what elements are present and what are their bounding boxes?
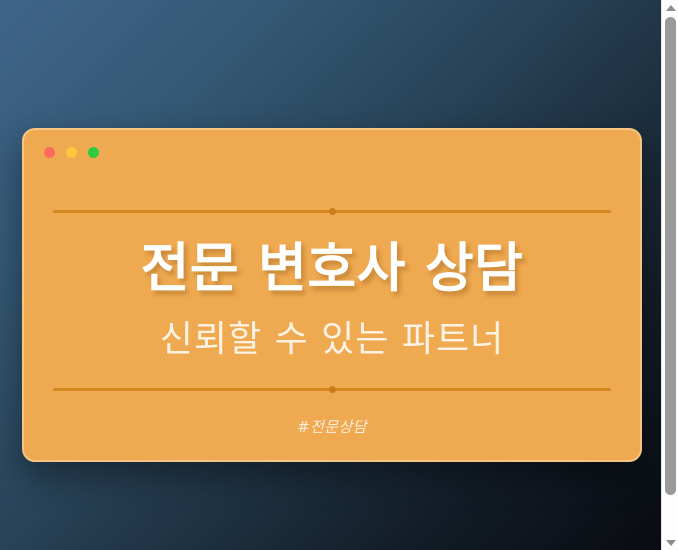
page-title: 전문 변호사 상담 [141,241,524,297]
minimize-button-dot[interactable] [66,147,77,158]
divider-node-icon [329,208,336,215]
window-controls [44,147,99,158]
page-subtitle: 신뢰할 수 있는 파트너 [160,319,504,360]
page-viewport: 전문 변호사 상담 신뢰할 수 있는 파트너 #전문상담 [0,0,661,550]
close-button-dot[interactable] [44,147,55,158]
hashtag-label: #전문상담 [297,416,367,437]
divider-top [53,210,611,213]
vertical-scrollbar[interactable] [661,0,678,550]
scroll-down-arrow-icon[interactable] [662,535,678,550]
scrollbar-thumb[interactable] [665,17,676,495]
promo-card: 전문 변호사 상담 신뢰할 수 있는 파트너 #전문상담 [22,128,642,462]
divider-node-icon [329,386,336,393]
maximize-button-dot[interactable] [88,147,99,158]
scroll-up-arrow-icon[interactable] [662,0,678,15]
divider-bottom [53,388,611,391]
card-content: 전문 변호사 상담 신뢰할 수 있는 파트너 #전문상담 [24,174,640,460]
